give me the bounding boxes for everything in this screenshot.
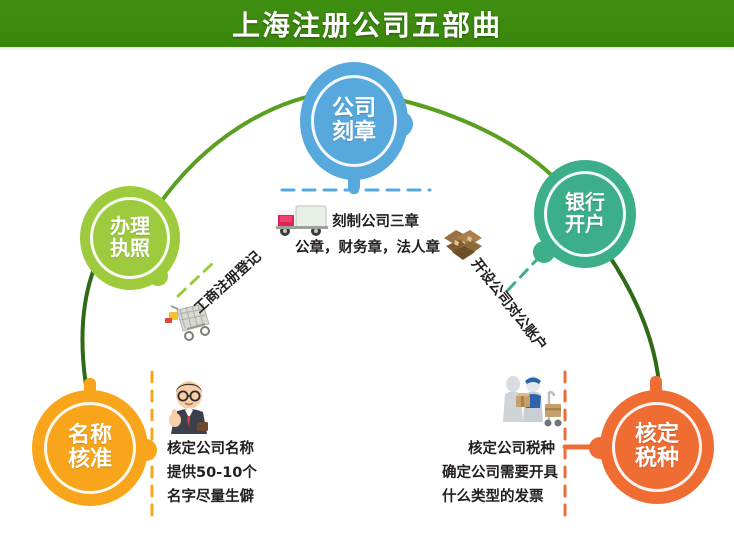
caption-tax-type-line1: 核定公司税种 xyxy=(468,438,555,460)
infographic-canvas: 上海注册公司五部曲 公司 xyxy=(0,0,734,542)
caption-name-approval-line1: 核定公司名称 xyxy=(167,438,254,460)
node-name-approval-line1: 名称 xyxy=(68,423,112,448)
node-tax-type[interactable]: 核定 税种 xyxy=(600,390,714,504)
node-bank-account-line2: 开户 xyxy=(565,212,605,236)
node-name-approval[interactable]: 名称 核准 xyxy=(32,390,148,506)
caption-company-seal-line2: 公章，财务章，法人章 xyxy=(295,237,440,259)
node-tax-type-line2: 税种 xyxy=(635,446,679,471)
node-name-approval-label: 名称 核准 xyxy=(68,424,112,472)
node-name-approval-line2: 核准 xyxy=(68,447,112,472)
caption-name-approval-line2: 提供50-10个 xyxy=(167,462,257,484)
bank-dashed-diagonal xyxy=(508,250,546,290)
node-bank-account[interactable]: 银行 开户 xyxy=(534,160,636,268)
node-tax-type-line1: 核定 xyxy=(635,422,679,447)
seal-dash-stem xyxy=(349,180,359,194)
courier-with-packages-icon xyxy=(500,372,564,430)
arc-seal-to-bank xyxy=(392,98,562,186)
node-company-seal-label: 公司 刻章 xyxy=(332,97,376,145)
caption-name-approval-line3: 名字尽量生僻 xyxy=(167,486,254,508)
node-business-license-line1: 办理 xyxy=(110,214,150,238)
businessman-thumbs-up-icon xyxy=(165,378,213,434)
delivery-truck-icon xyxy=(274,200,330,238)
node-company-seal[interactable]: 公司 刻章 xyxy=(300,62,408,180)
node-company-seal-line2: 刻章 xyxy=(332,120,376,145)
caption-tax-type-line3: 什么类型的发票 xyxy=(442,486,544,508)
node-bank-account-label: 银行 开户 xyxy=(565,192,605,235)
node-business-license[interactable]: 办理 执照 xyxy=(80,186,180,290)
node-business-license-label: 办理 执照 xyxy=(110,216,150,259)
caption-tax-type-line2: 确定公司需要开具 xyxy=(442,462,558,484)
caption-company-seal-line1: 刻制公司三章 xyxy=(332,211,419,233)
node-company-seal-line1: 公司 xyxy=(332,96,376,121)
node-business-license-line2: 执照 xyxy=(110,236,150,260)
node-bank-account-line1: 银行 xyxy=(565,190,605,214)
node-tax-type-label: 核定 税种 xyxy=(635,423,679,471)
